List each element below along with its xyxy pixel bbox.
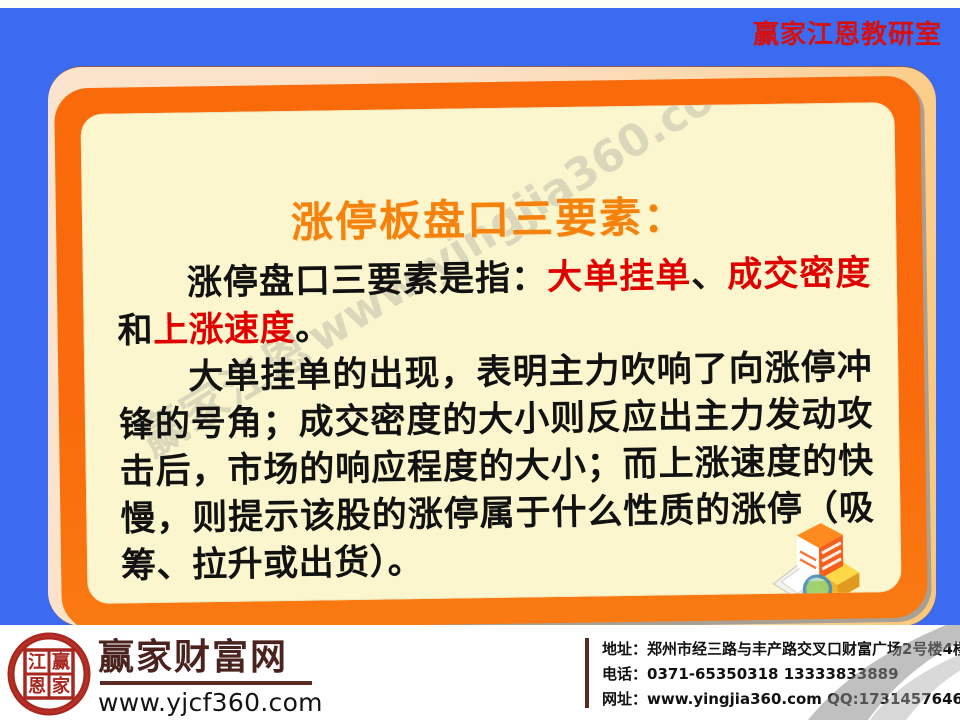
top-strip <box>0 0 960 8</box>
seal-char: 家 <box>52 675 71 697</box>
header-title: 赢家江恩教研室 <box>753 22 942 48</box>
seal-char: 赢 <box>52 651 70 673</box>
brand-block: 赢家财富网 www.yjcf360.com <box>98 637 323 717</box>
body-text: 、 <box>691 255 728 296</box>
contact-info: 地址：郑州市经三路与丰产路交叉口财富广场2号楼4楼C户电话：0371-65350… <box>602 637 960 712</box>
seal-char: 江 <box>28 652 46 673</box>
seal-char: 恩 <box>28 676 46 697</box>
slide-paragraph: 大单挂单的出现，表明主力吹响了向涨停冲锋的号角；成交密度的大小则反应出主力发动攻… <box>118 344 875 590</box>
slide-title: 涨停板盘口三要素： <box>82 180 897 253</box>
brand-name: 赢家财富网 <box>98 637 323 679</box>
slide-canvas: 赢家江恩教研室 赢家江恩 www.yingjia360.com QQ:17314… <box>0 0 960 720</box>
contact-label: 地址： <box>602 640 647 658</box>
brand-underline <box>100 681 312 685</box>
contact-row: 地址：郑州市经三路与丰产路交叉口财富广场2号楼4楼C户 <box>602 637 960 662</box>
body-text: 。 <box>295 308 331 349</box>
slide-body: 涨停盘口三要素是指：大单挂单、成交密度和上涨速度。大单挂单的出现，表明主力吹响了… <box>117 250 876 590</box>
body-text: 和 <box>117 311 153 352</box>
body-text: 大单挂单的出现，表明主力吹响了向涨停冲锋的号角；成交密度的大小则反应出主力发动攻… <box>119 347 875 586</box>
body-text: 涨停盘口三要素是指： <box>187 258 548 303</box>
contact-row: 网址：www.yingjia360.com QQ:1731457646 <box>602 687 960 712</box>
document-search-box-icon <box>767 521 864 600</box>
contact-row: 电话：0371-65350318 13333833889 <box>602 662 960 687</box>
emphasis-term: 成交密度 <box>727 253 871 295</box>
brand-url[interactable]: www.yjcf360.com <box>98 688 323 717</box>
contact-value: www.yingjia360.com QQ:1731457646 <box>647 690 960 708</box>
emphasis-term: 上涨速度 <box>153 309 296 351</box>
contact-label: 电话： <box>602 665 647 683</box>
footer-bar: 江 赢 恩 家 赢家财富网 www.yjcf360.com 地址：郑州市经三路与… <box>0 625 960 720</box>
card-inner-panel: 赢家江恩 www.yingjia360.com QQ:1731457646 涨停… <box>80 102 901 604</box>
company-seal-logo: 江 赢 恩 家 <box>6 631 92 717</box>
emphasis-term: 大单挂单 <box>547 256 692 298</box>
contact-value: 郑州市经三路与丰产路交叉口财富广场2号楼4楼C户 <box>647 640 960 658</box>
slide-paragraph: 涨停盘口三要素是指：大单挂单、成交密度和上涨速度。 <box>117 250 872 355</box>
contact-label: 网址： <box>602 690 647 708</box>
footer-divider <box>585 638 589 708</box>
card-orange-frame: 赢家江恩 www.yingjia360.com QQ:1731457646 涨停… <box>54 76 928 631</box>
contact-value: 0371-65350318 13333833889 <box>647 665 899 683</box>
